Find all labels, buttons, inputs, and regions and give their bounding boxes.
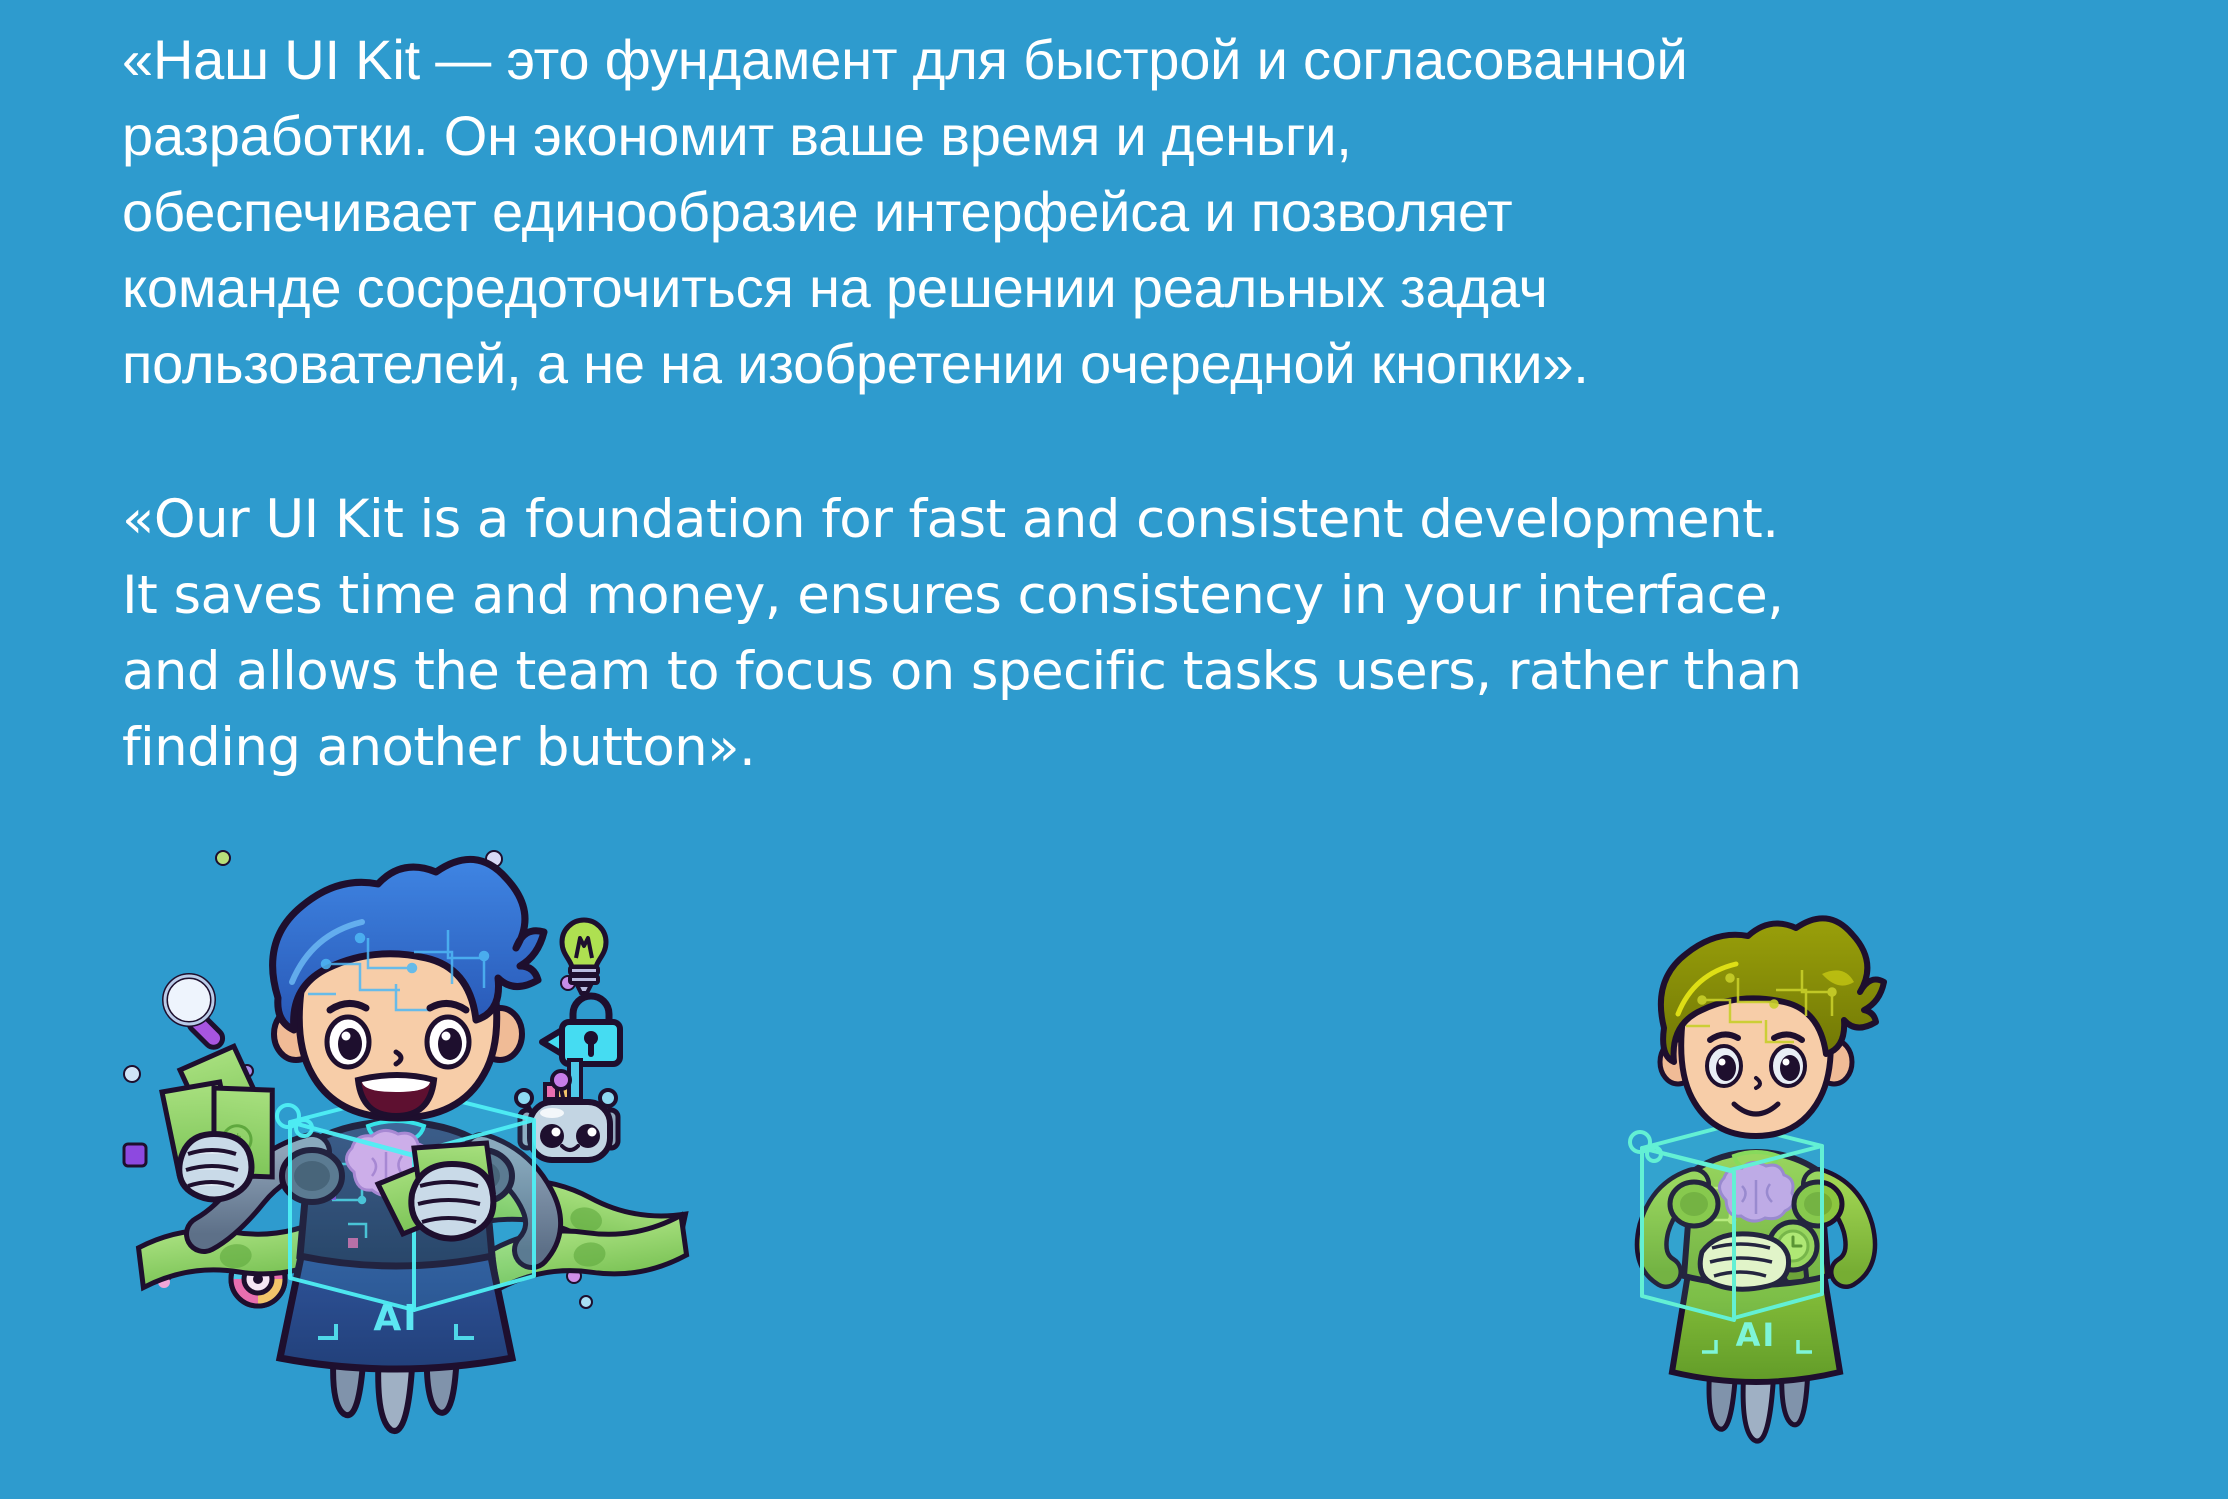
illustration-right-ai-kid-green: AI [1586, 866, 1926, 1476]
hologram-cube [1630, 1124, 1822, 1320]
quote-block: «Наш UI Kit — это фундамент для быстрой … [122, 22, 2052, 786]
decorative-square [124, 1144, 146, 1166]
quote-russian: «Наш UI Kit — это фундамент для быстрой … [122, 22, 2052, 402]
head [1660, 918, 1884, 1136]
badge-label-ai: AI [1736, 1316, 1777, 1354]
lock-icon [542, 996, 620, 1064]
hand-left [179, 1134, 251, 1200]
slide-root: «Наш UI Kit — это фундамент для быстрой … [0, 0, 2228, 1499]
lightbulb-icon [562, 920, 606, 993]
magnifier-icon [165, 976, 226, 1051]
hand-right [411, 1164, 493, 1239]
quote-english: «Our UI Kit is a foundation for fast and… [122, 402, 2052, 786]
head [273, 859, 544, 1118]
illustration-left-ai-kid-with-money: AI [96, 852, 656, 1492]
